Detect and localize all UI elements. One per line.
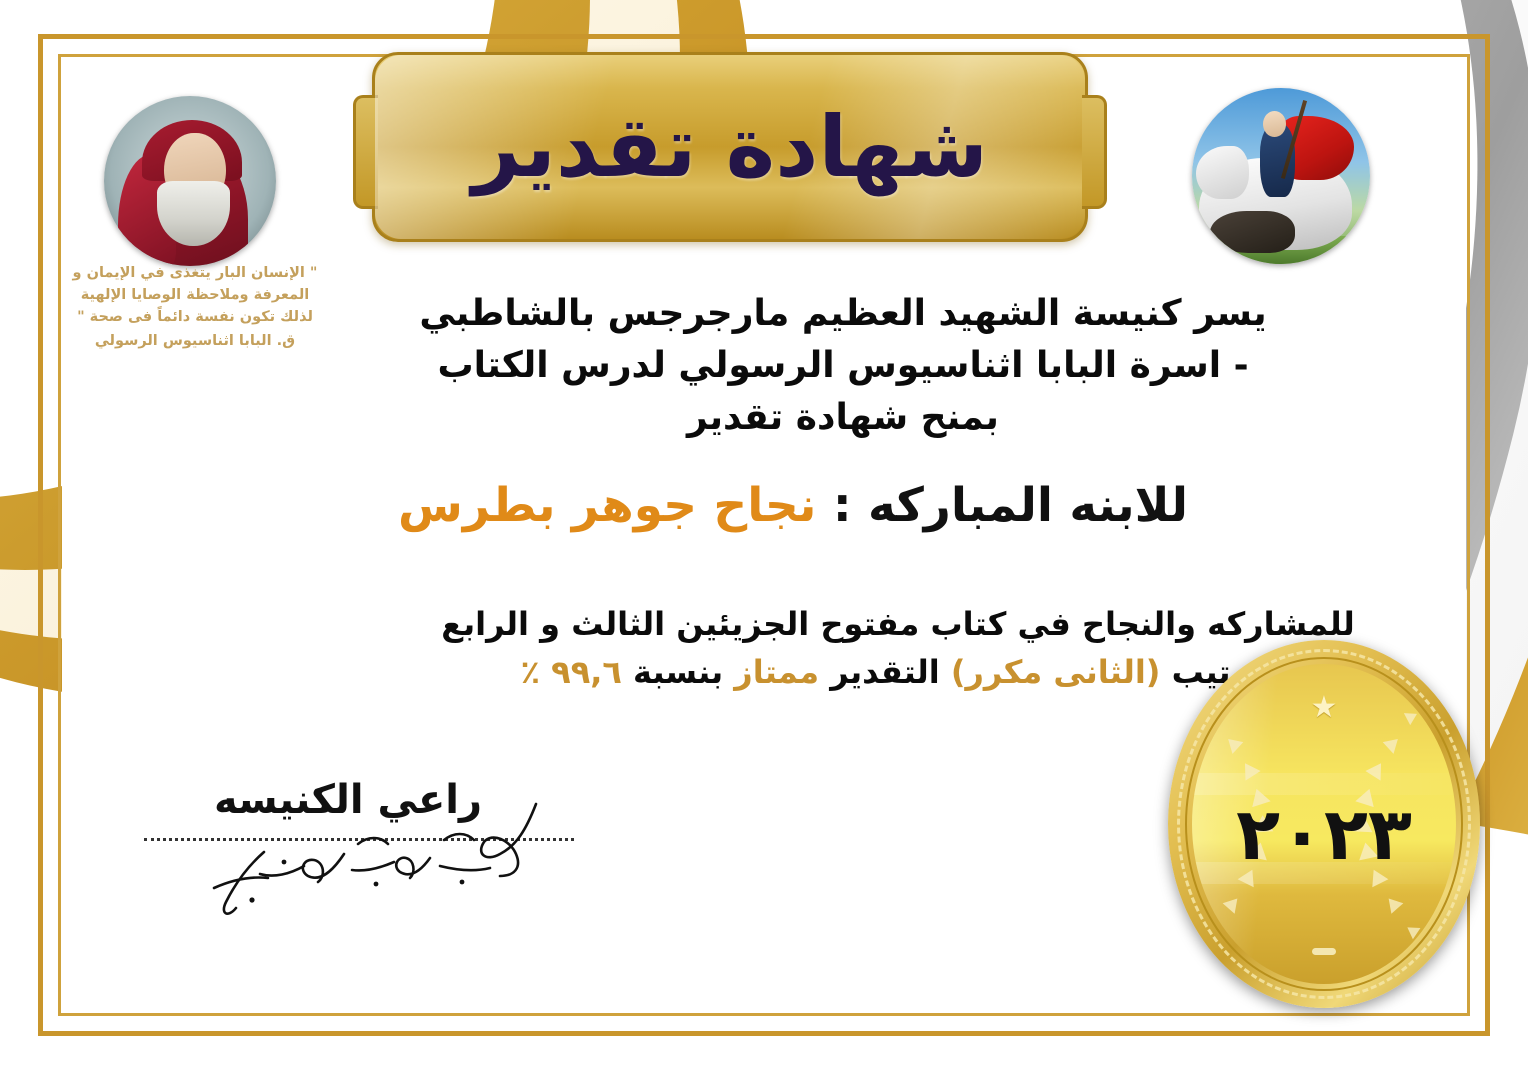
body-line-2: - اسرة البابا اثناسيوس الرسولي لدرس الكت…: [298, 340, 1388, 392]
laurel-leaf: [1206, 922, 1223, 939]
laurel-base-icon: [1312, 948, 1336, 955]
achievement-segment-2: التقدير: [819, 653, 951, 691]
recipient-line: للابنه المباركه : نجاح جوهر بطرس: [198, 478, 1388, 533]
achievement-segment-3: ممتاز: [734, 653, 819, 691]
plaque-gold-panel: شهادة تقدير: [372, 52, 1088, 242]
laurel-leaf: [1404, 708, 1420, 725]
certificate-canvas: شهادة تقدير " الإنسان البار يتغذى في الإ…: [0, 0, 1528, 1080]
recipient-name: نجاح جوهر بطرس: [398, 478, 816, 533]
laurel-leaf: [1383, 893, 1404, 913]
quote-attribution: ق. البابا اثناسيوس الرسولي: [70, 330, 320, 352]
laurel-leaf: [1403, 922, 1420, 939]
horse-head-shape: [1196, 146, 1249, 199]
laurel-leaf: [1222, 893, 1243, 913]
laurel-leaf: [1383, 733, 1404, 754]
laurel-leaf: [1237, 759, 1260, 781]
achievement-segment-5: ٩٩,٦ ٪: [520, 653, 621, 691]
signature-line: [144, 836, 574, 841]
pope-athanasius-icon: [104, 96, 276, 266]
quote-text: " الإنسان البار يتغذى في الإيمان و المعر…: [73, 265, 318, 325]
achievement-segment-1: (الثانى مكرر): [951, 653, 1161, 691]
signature-block: راعي الكنيسه: [88, 778, 608, 841]
scripture-quote: " الإنسان البار يتغذى في الإيمان و المعر…: [70, 262, 320, 352]
title-plaque: شهادة تقدير: [372, 52, 1088, 242]
certificate-title: شهادة تقدير: [375, 55, 1085, 239]
body-line-1: يسر كنيسة الشهيد العظيم مارجرجس بالشاطبي: [298, 288, 1388, 340]
dragon-shape: [1210, 211, 1295, 253]
certificate-body: يسر كنيسة الشهيد العظيم مارجرجس بالشاطبي…: [298, 288, 1388, 443]
achievement-segment-4: بنسبة: [622, 653, 734, 691]
seal-year: ٢٠٢٣: [1192, 792, 1456, 876]
star-icon: ★: [1311, 693, 1338, 723]
laurel-leaf: [1206, 708, 1222, 725]
saint-george-icon: [1192, 88, 1370, 264]
body-line-3: بمنح شهادة تقدير: [298, 392, 1388, 444]
laurel-leaf: [1222, 733, 1243, 754]
seal-face: ★ ٢٠٢٣: [1192, 664, 1456, 984]
laurel-leaf: [1366, 759, 1389, 781]
recipient-prefix: للابنه المباركه :: [816, 478, 1188, 533]
signature-label: راعي الكنيسه: [88, 778, 608, 822]
gold-medal-seal: ★ ٢٠٢٣: [1168, 640, 1480, 1008]
